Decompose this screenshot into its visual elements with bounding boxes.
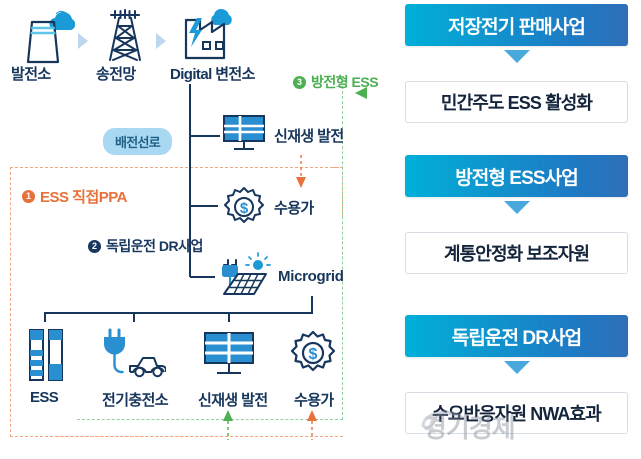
node-ev-charger-label: 전기충전소 <box>102 389 168 410</box>
branch-line-renewable <box>190 135 220 137</box>
microgrid-icon <box>214 252 274 300</box>
marker-2-badge: 2 <box>88 240 101 253</box>
bottom-drop-ev <box>133 312 135 322</box>
battery-ess-icon <box>26 326 66 384</box>
trunk-line-main <box>189 84 191 254</box>
panel-result-2[interactable]: 계통안정화 보조자원 <box>405 232 628 274</box>
solar-panel-icon <box>202 331 256 379</box>
svg-text:$: $ <box>309 346 318 363</box>
panel-result-3[interactable]: 수요반응자원 NWA효과 <box>405 392 628 434</box>
power-plant-icon <box>12 8 80 66</box>
arrow-left-icon <box>355 87 373 99</box>
arrow-left-discharge-ess <box>355 86 373 104</box>
gear-dollar-icon: $ <box>290 330 336 376</box>
node-power-plant-label: 발전소 <box>11 63 51 84</box>
chevron-right-icon-2 <box>156 33 166 49</box>
node-consumer-bottom-label: 수용가 <box>294 389 334 410</box>
node-transmission-tower-label: 송전망 <box>96 63 136 84</box>
node-renewable-bottom[interactable] <box>202 331 256 379</box>
branch-line-microgrid-h <box>190 276 215 278</box>
marker-1-badge: 1 <box>22 190 35 203</box>
panel-arrow-1 <box>405 50 628 63</box>
bottom-drop-ess <box>44 312 46 322</box>
node-consumer-mid-label: 수용가 <box>274 197 314 218</box>
node-consumer-mid[interactable]: $ <box>222 186 266 228</box>
ev-charger-icon <box>100 327 166 383</box>
solar-panel-icon <box>220 113 268 155</box>
transmission-tower-icon <box>98 8 152 66</box>
bottom-drop-consumer <box>311 296 313 314</box>
arrow-down-icon <box>504 361 530 374</box>
bottom-bus-line <box>44 312 312 314</box>
panel-heading-3[interactable]: 독립운전 DR사업 <box>405 315 628 357</box>
arrow-down-consumer <box>295 155 307 193</box>
node-renewable-bottom-label: 신재생 발전 <box>198 389 268 410</box>
node-ess-label: ESS <box>30 389 58 406</box>
panel-heading-2[interactable]: 방전형 ESS사업 <box>405 155 628 197</box>
node-renewable-mid-label: 신재생 발전 <box>274 125 344 146</box>
branch-line-microgrid-v <box>189 254 191 277</box>
marker-1-label: ESS 직접PPA <box>40 186 127 207</box>
node-digital-substation-label: Digital 변전소 <box>170 63 255 84</box>
arrow-up-consumer <box>306 410 318 440</box>
panel-arrow-3 <box>405 361 628 374</box>
chevron-right-icon <box>78 33 88 49</box>
badge-distribution-line: 배전선로 <box>103 128 172 155</box>
node-microgrid-label: Microgrid <box>278 268 344 285</box>
node-transmission-tower[interactable] <box>98 8 152 66</box>
svg-text:$: $ <box>240 200 249 217</box>
arrow-down-icon <box>504 201 530 214</box>
node-power-plant[interactable] <box>12 8 80 66</box>
panel-result-1[interactable]: 민간주도 ESS 활성화 <box>405 81 628 123</box>
marker-2-label: 독립운전 DR사업 <box>106 236 203 256</box>
marker-ess-direct-ppa: 1 ESS 직접PPA <box>22 186 127 207</box>
gear-dollar-icon: $ <box>222 186 266 228</box>
diagram-canvas: 발전소 송전망 <box>0 0 641 458</box>
arrow-up-renewable <box>222 410 234 440</box>
panel-arrow-2 <box>405 201 628 214</box>
marker-3-badge: 3 <box>293 76 306 89</box>
node-renewable-mid[interactable] <box>220 113 268 155</box>
marker-independent-dr: 2 독립운전 DR사업 <box>88 236 203 256</box>
node-digital-substation[interactable] <box>178 6 250 66</box>
node-ev-charger[interactable] <box>100 327 166 383</box>
node-consumer-bottom[interactable]: $ <box>290 330 336 376</box>
region-ess-direct-ppa-bottom <box>56 435 343 437</box>
digital-substation-icon <box>178 6 250 66</box>
panel-heading-1[interactable]: 저장전기 판매사업 <box>405 4 628 46</box>
node-microgrid[interactable] <box>214 252 274 300</box>
node-ess[interactable] <box>26 326 66 384</box>
branch-line-consumer <box>190 205 218 207</box>
bottom-drop-renewable <box>228 312 230 322</box>
arrow-down-icon <box>504 50 530 63</box>
